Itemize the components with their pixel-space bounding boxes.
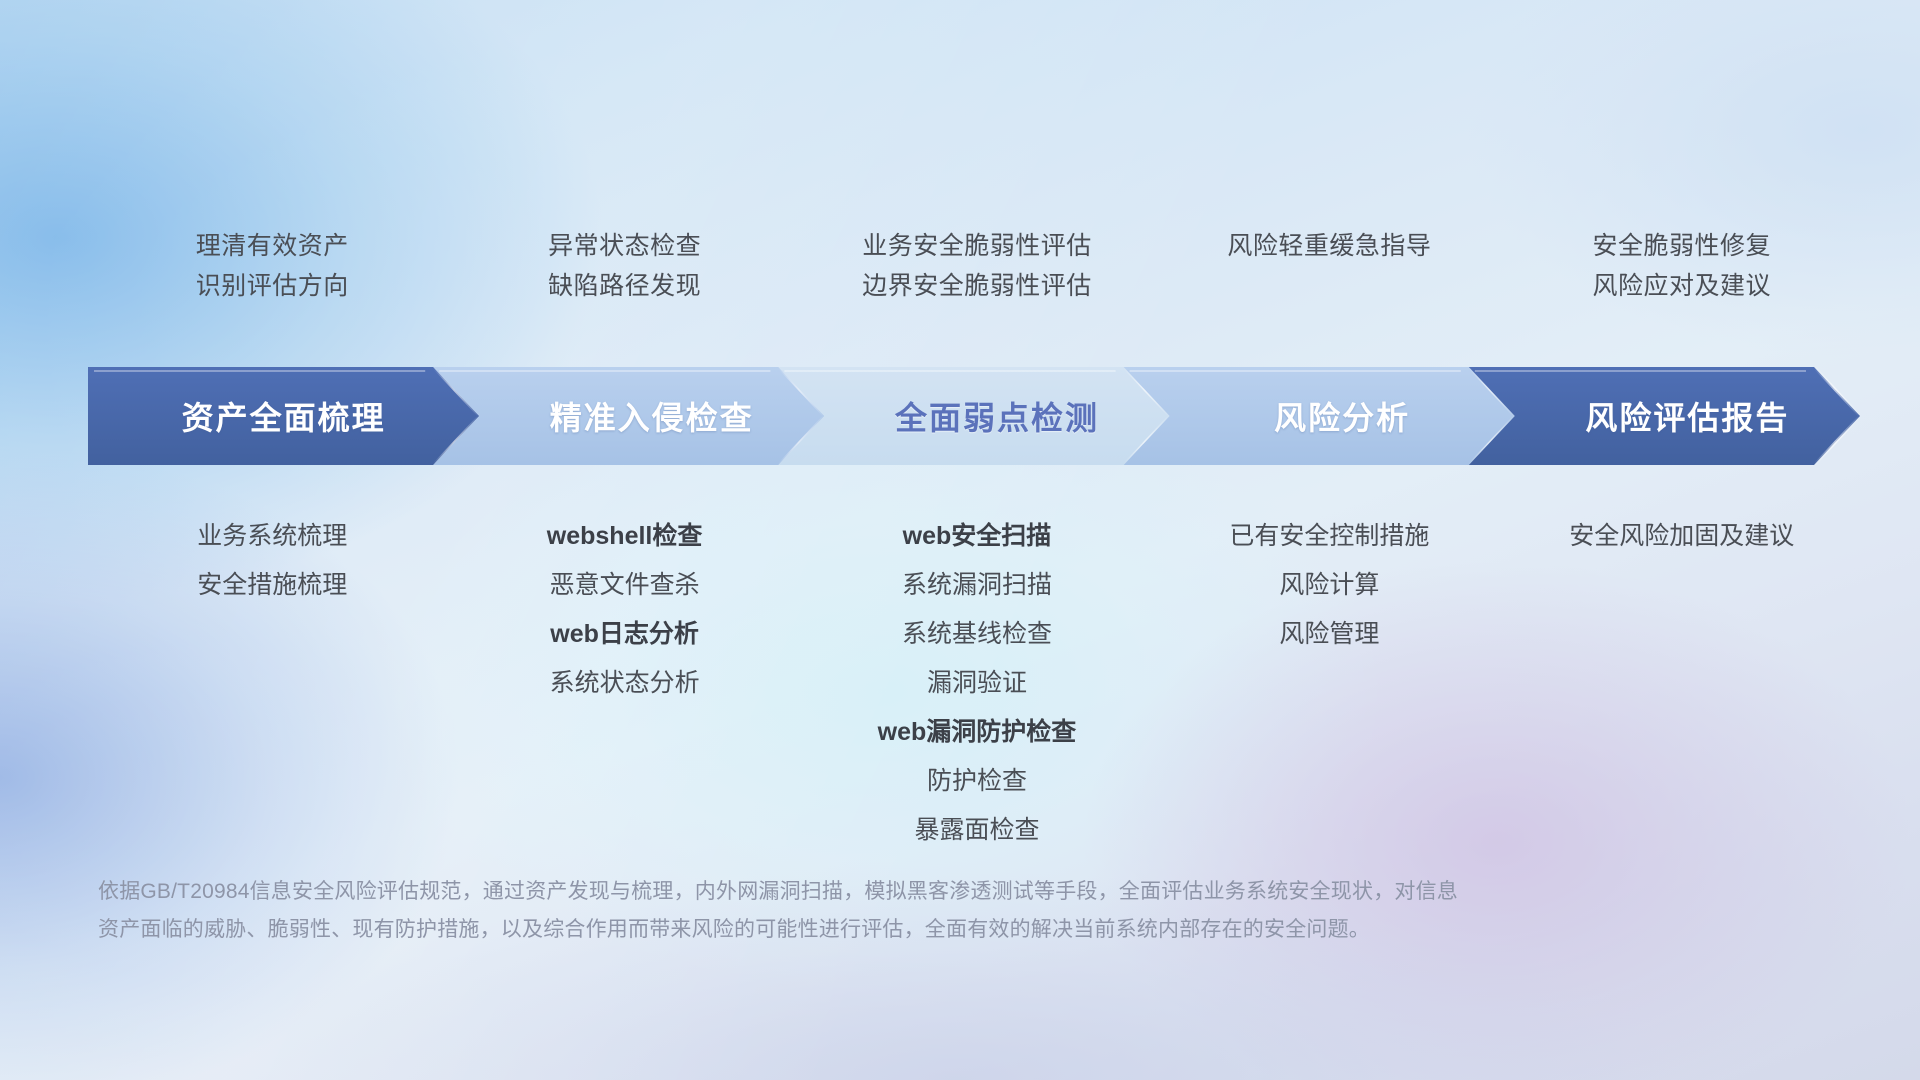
footer-line-1: 依据GB/T20984信息安全风险评估规范，通过资产发现与梳理，内外网漏洞扫描，…: [98, 873, 1818, 911]
top-label: 业务安全脆弱性评估: [801, 226, 1153, 266]
detail-item[interactable]: 风险计算: [1153, 561, 1505, 610]
detail-item[interactable]: 漏洞验证: [801, 659, 1153, 708]
top-label: 理清有效资产: [96, 226, 448, 266]
detail-item[interactable]: web安全扫描: [801, 512, 1153, 561]
detail-item[interactable]: 安全措施梳理: [96, 561, 448, 610]
slide-canvas: 理清有效资产识别评估方向异常状态检查缺陷路径发现业务安全脆弱性评估边界安全脆弱性…: [0, 0, 1920, 1080]
detail-column-asset-inventory: 业务系统梳理安全措施梳理: [96, 512, 448, 610]
detail-item[interactable]: 恶意文件查杀: [448, 561, 800, 610]
top-label: 风险应对及建议: [1506, 266, 1858, 306]
detail-column-risk-report: 安全风险加固及建议: [1506, 512, 1858, 561]
top-label: 识别评估方向: [96, 266, 448, 306]
detail-item[interactable]: web日志分析: [448, 610, 800, 659]
detail-item[interactable]: 业务系统梳理: [96, 512, 448, 561]
top-labels-risk-report: 安全脆弱性修复风险应对及建议: [1506, 226, 1858, 306]
detail-item[interactable]: 安全风险加固及建议: [1506, 512, 1858, 561]
top-label: 风险轻重缓急指导: [1153, 226, 1505, 266]
detail-column-risk-analysis: 已有安全控制措施风险计算风险管理: [1153, 512, 1505, 659]
top-labels-intrusion-check: 异常状态检查缺陷路径发现: [448, 226, 800, 306]
diagram-content: 理清有效资产识别评估方向异常状态检查缺陷路径发现业务安全脆弱性评估边界安全脆弱性…: [0, 0, 1920, 1080]
top-label: 异常状态检查: [448, 226, 800, 266]
detail-item[interactable]: webshell检查: [448, 512, 800, 561]
detail-column-weakness-detection: web安全扫描系统漏洞扫描系统基线检查漏洞验证web漏洞防护检查防护检查暴露面检…: [801, 512, 1153, 855]
top-label: 安全脆弱性修复: [1506, 226, 1858, 266]
detail-item[interactable]: 风险管理: [1153, 610, 1505, 659]
detail-item[interactable]: 系统漏洞扫描: [801, 561, 1153, 610]
detail-item[interactable]: 已有安全控制措施: [1153, 512, 1505, 561]
chevron-title-risk-report[interactable]: 风险评估报告: [1515, 367, 1860, 465]
detail-item[interactable]: 系统基线检查: [801, 610, 1153, 659]
chevron-title-asset-inventory[interactable]: 资产全面梳理: [88, 367, 479, 465]
detail-item[interactable]: web漏洞防护检查: [801, 708, 1153, 757]
top-labels-risk-analysis: 风险轻重缓急指导: [1153, 226, 1505, 306]
detail-item[interactable]: 防护检查: [801, 757, 1153, 806]
stage-top-labels-row: 理清有效资产识别评估方向异常状态检查缺陷路径发现业务安全脆弱性评估边界安全脆弱性…: [96, 226, 1858, 306]
chevron-title-intrusion-check[interactable]: 精准入侵检查: [479, 367, 824, 465]
top-labels-weakness-detection: 业务安全脆弱性评估边界安全脆弱性评估: [801, 226, 1153, 306]
footer-description: 依据GB/T20984信息安全风险评估规范，通过资产发现与梳理，内外网漏洞扫描，…: [98, 873, 1818, 949]
process-chevron-banner: 资产全面梳理精准入侵检查全面弱点检测风险分析风险评估报告: [88, 367, 1860, 465]
stage-detail-columns-row: 业务系统梳理安全措施梳理webshell检查恶意文件查杀web日志分析系统状态分…: [96, 512, 1858, 855]
footer-line-2: 资产面临的威胁、脆弱性、现有防护措施，以及综合作用而带来风险的可能性进行评估，全…: [98, 911, 1818, 949]
chevron-title-risk-analysis[interactable]: 风险分析: [1170, 367, 1515, 465]
top-label: 缺陷路径发现: [448, 266, 800, 306]
top-labels-asset-inventory: 理清有效资产识别评估方向: [96, 226, 448, 306]
detail-column-intrusion-check: webshell检查恶意文件查杀web日志分析系统状态分析: [448, 512, 800, 708]
detail-item[interactable]: 暴露面检查: [801, 806, 1153, 855]
top-label: 边界安全脆弱性评估: [801, 266, 1153, 306]
detail-item[interactable]: 系统状态分析: [448, 659, 800, 708]
chevron-title-weakness-detection[interactable]: 全面弱点检测: [824, 367, 1169, 465]
